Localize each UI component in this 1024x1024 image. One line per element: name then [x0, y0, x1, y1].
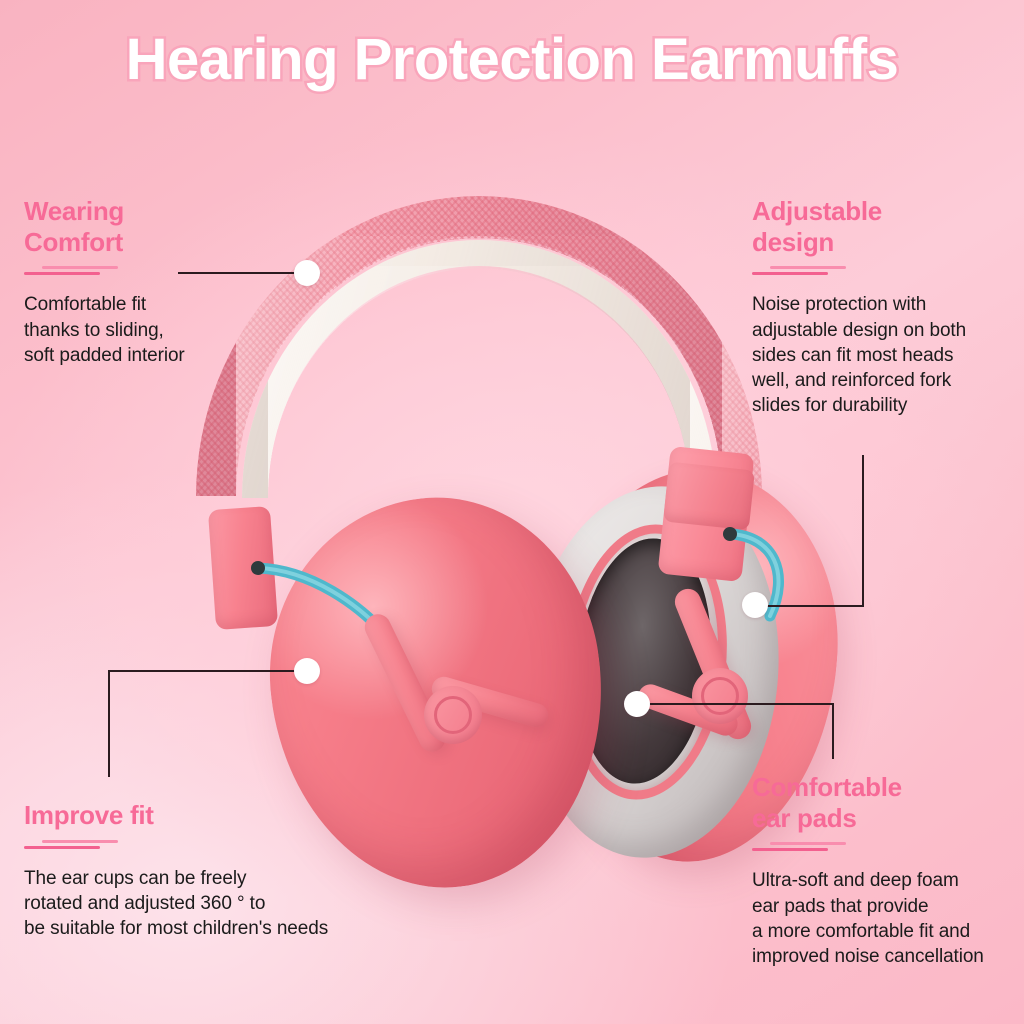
leader-line-earpads-vertical: [832, 703, 834, 759]
feature-heading-wearing-comfort: Wearing Comfort: [24, 196, 304, 257]
feature-heading-adjustable-design: Adjustable design: [752, 196, 1022, 257]
feature-block-comfortable-ear-pads: Comfortable ear pads Ultra-soft and deep…: [752, 772, 1024, 969]
callout-dot-earpads: [624, 691, 650, 717]
feature-body-comfortable-ear-pads: Ultra-soft and deep foam ear pads that p…: [752, 868, 1024, 969]
feature-block-improve-fit: Improve fit The ear cups can be freely r…: [24, 800, 424, 941]
feature-heading-improve-fit: Improve fit: [24, 800, 424, 831]
callout-dot-improve: [294, 658, 320, 684]
teal-wire-left: [250, 548, 470, 688]
leader-line-adjustable-horizontal: [762, 605, 864, 607]
heading-rule-wearing: [24, 266, 304, 279]
leader-line-adjustable-vertical: [862, 455, 864, 607]
product-infographic-poster: Hearing Protection Earmuffs Wearing Comf…: [0, 0, 1024, 1024]
pivot-knob-ring-left: [434, 696, 472, 734]
heading-rule-improve: [24, 840, 424, 853]
heading-rule-adjustable: [752, 266, 1022, 279]
feature-body-wearing-comfort: Comfortable fit thanks to sliding, soft …: [24, 292, 304, 368]
feature-heading-comfortable-ear-pads: Comfortable ear pads: [752, 772, 1024, 833]
pivot-knob-ring-right: [701, 677, 739, 715]
leader-line-earpads-horizontal: [648, 703, 834, 705]
teal-wire-right: [716, 520, 836, 650]
feature-block-adjustable-design: Adjustable design Noise protection with …: [752, 196, 1022, 419]
callout-dot-adjustable: [742, 592, 768, 618]
leader-line-improve-vertical: [108, 670, 110, 777]
feature-body-adjustable-design: Noise protection with adjustable design …: [752, 292, 1022, 418]
heading-rule-earpads: [752, 842, 1024, 855]
feature-body-improve-fit: The ear cups can be freely rotated and a…: [24, 866, 424, 942]
feature-block-wearing-comfort: Wearing Comfort Comfortable fit thanks t…: [24, 196, 304, 368]
page-title: Hearing Protection Earmuffs: [0, 26, 1024, 93]
leader-line-improve-horizontal: [108, 670, 300, 672]
